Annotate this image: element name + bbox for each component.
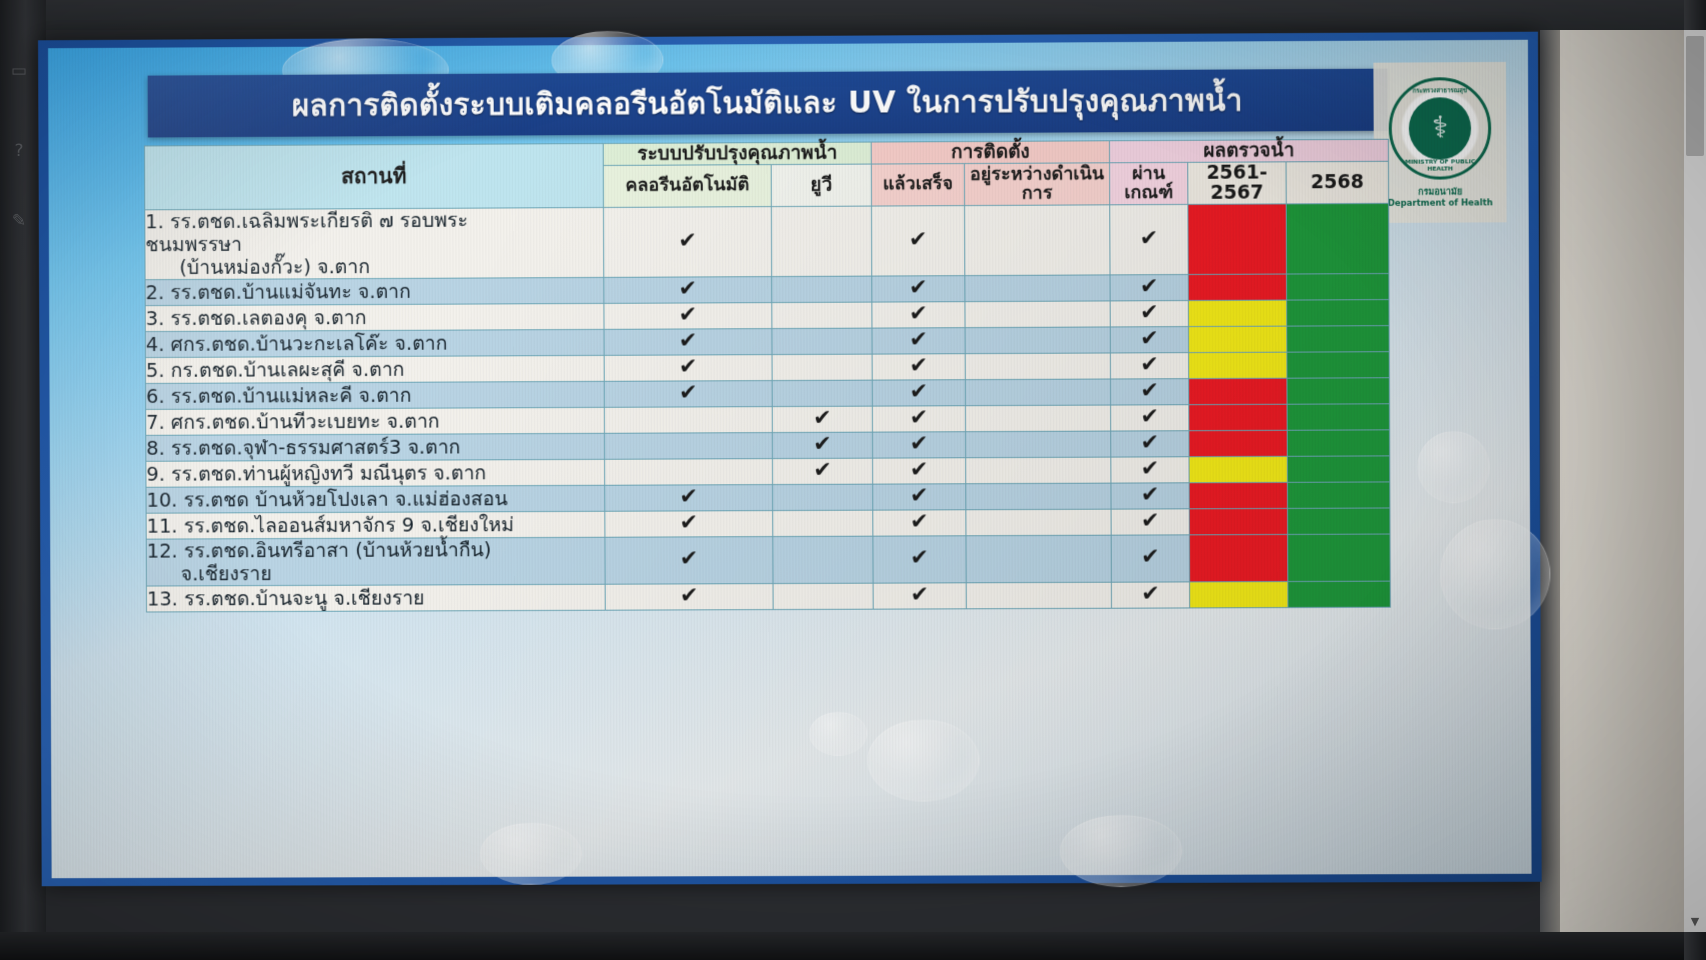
check-icon: ✔	[679, 328, 698, 353]
logo-caption-th: กรมอนามัย	[1418, 184, 1462, 198]
logo-arc-bottom-text: MINISTRY OF PUBLIC HEALTH	[1392, 158, 1488, 173]
cell-uv	[773, 583, 873, 609]
cell-chlorine: ✔	[604, 276, 772, 303]
check-icon: ✔	[909, 353, 928, 378]
check-icon: ✔	[909, 379, 928, 404]
col-header-year-range: 2561-2567	[1188, 161, 1286, 204]
col-header-pass: ผ่านเกณฑ์	[1110, 162, 1188, 204]
check-icon: ✔	[1140, 326, 1159, 351]
results-table: สถานที่ ระบบปรับปรุงคุณภาพน้ำ การติดตั้ง…	[144, 139, 1391, 612]
cell-place: 11. รร.ตชด.ไลออนส์มหาจักร 9 จ.เชียงใหม่	[146, 511, 605, 539]
cell-year-range-swatch	[1190, 581, 1288, 607]
cell-result-pass: ✔	[1110, 204, 1188, 274]
logo-inner-mark: ⚕	[1409, 97, 1472, 159]
cell-chlorine: ✔	[605, 484, 773, 511]
cell-install-done: ✔	[872, 353, 965, 379]
check-icon: ✔	[1141, 545, 1160, 570]
check-icon: ✔	[910, 457, 929, 482]
cell-place: 1. รร.ตชด.เฉลิมพระเกียรติ ๗ รอบพระชนมพรร…	[145, 207, 604, 279]
cell-result-pass: ✔	[1110, 300, 1188, 326]
cell-uv: ✔	[772, 406, 872, 432]
cell-place: 3. รร.ตชด.เลตองคุ จ.ตาก	[145, 303, 604, 331]
cell-chlorine: ✔	[604, 206, 772, 277]
results-table-container: สถานที่ ระบบปรับปรุงคุณภาพน้ำ การติดตั้ง…	[144, 139, 1391, 866]
place-name-line: 2. รร.ตชด.บ้านแม่จันทะ จ.ตาก	[146, 278, 604, 303]
cell-year-range-swatch	[1189, 508, 1287, 534]
cell-install-inprogress	[964, 204, 1110, 275]
check-icon: ✔	[1140, 352, 1159, 377]
cell-place: 7. ศกร.ตชด.บ้านทีวะเบยทะ จ.ตาก	[146, 407, 605, 435]
check-icon: ✔	[1140, 226, 1159, 251]
cell-result-pass: ✔	[1111, 581, 1189, 607]
monitor-bezel-top	[0, 0, 1706, 30]
cell-year-2568-swatch	[1287, 481, 1389, 507]
logo-arc-top-text: กระทรวงสาธารณสุข	[1392, 85, 1488, 96]
place-name-line: 13. รร.ตชด.บ้านจะนู จ.เชียงราย	[147, 585, 605, 610]
cell-year-2568-swatch	[1287, 299, 1389, 326]
cell-uv	[772, 302, 872, 328]
check-icon: ✔	[910, 483, 929, 508]
cell-chlorine: ✔	[604, 380, 772, 407]
col-header-result-group: ผลตรวจน้ำ	[1109, 139, 1388, 162]
cell-place: 5. กร.ตชด.บ้านเลผะสุคี จ.ตาก	[145, 355, 604, 383]
cell-year-range-swatch	[1189, 404, 1287, 430]
check-icon: ✔	[1140, 404, 1159, 429]
check-icon: ✔	[1141, 508, 1160, 533]
cell-chlorine: ✔	[604, 354, 772, 381]
cell-install-inprogress	[966, 483, 1111, 510]
cell-install-inprogress	[965, 300, 1110, 327]
cell-year-range-swatch	[1189, 378, 1287, 404]
table-row: 12. รร.ตชด.อินทรีอาสา (บ้านห้วยน้ำกืน)จ.…	[146, 534, 1390, 586]
cell-result-pass: ✔	[1110, 274, 1188, 300]
check-icon: ✔	[910, 405, 929, 430]
check-icon: ✔	[909, 227, 928, 252]
cell-place: 9. รร.ตชด.ท่านผู้หญิงทวี มณีนุตร จ.ตาก	[146, 459, 605, 487]
cell-install-inprogress	[966, 457, 1111, 484]
check-icon: ✔	[910, 582, 929, 607]
cell-chlorine	[605, 458, 773, 485]
check-icon: ✔	[813, 431, 832, 456]
cell-place: 6. รร.ตชด.บ้านแม่หละคี จ.ตาก	[146, 381, 605, 409]
check-icon: ✔	[813, 457, 832, 482]
col-header-done: แล้วเสร็จ	[871, 163, 964, 206]
cell-install-done: ✔	[873, 582, 966, 608]
place-name-line: 5. กร.ตชด.บ้านเลผะสุคี จ.ตาก	[146, 356, 604, 381]
check-icon: ✔	[910, 509, 929, 534]
table-head: สถานที่ ระบบปรับปรุงคุณภาพน้ำ การติดตั้ง…	[144, 139, 1388, 209]
cell-install-done: ✔	[871, 205, 964, 276]
cell-result-pass: ✔	[1111, 482, 1189, 508]
caduceus-icon: กระทรวงสาธารณสุข ⚕ MINISTRY OF PUBLIC HE…	[1388, 77, 1491, 180]
col-header-chlorine: คลอรีนอัตโนมัติ	[603, 164, 771, 207]
cell-result-pass: ✔	[1111, 456, 1189, 482]
cell-chlorine: ✔	[604, 328, 772, 355]
check-icon: ✔	[1141, 456, 1160, 481]
bubble-decoration	[1440, 519, 1551, 630]
place-name-line: 8. รร.ตชด.จุฬา-ธรรมศาสตร์3 จ.ตาก	[146, 434, 604, 459]
wall-surface-right	[1540, 30, 1688, 932]
check-icon: ✔	[1141, 581, 1160, 606]
check-icon: ✔	[1141, 430, 1160, 455]
place-name-line: 4. ศกร.ตชด.บ้านวะกะเลโค๊ะ จ.ตาก	[146, 330, 604, 355]
check-icon: ✔	[679, 354, 698, 379]
cell-year-2568-swatch	[1287, 455, 1389, 481]
cell-install-inprogress	[966, 535, 1111, 583]
cell-install-done: ✔	[873, 457, 966, 483]
cell-uv: ✔	[772, 458, 872, 484]
cell-install-done: ✔	[872, 405, 965, 431]
col-header-year-2568: 2568	[1286, 161, 1389, 204]
cell-install-done: ✔	[872, 327, 965, 353]
cell-year-range-swatch	[1188, 326, 1286, 353]
cell-year-2568-swatch	[1287, 377, 1389, 404]
cell-year-2568-swatch	[1286, 203, 1389, 274]
table-body: 1. รร.ตชด.เฉลิมพระเกียรติ ๗ รอบพระชนมพรร…	[145, 203, 1391, 612]
place-name-line: จ.เชียงราย	[147, 560, 605, 585]
cell-install-done: ✔	[872, 275, 965, 301]
cell-install-inprogress	[965, 379, 1110, 406]
cell-year-2568-swatch	[1288, 534, 1391, 581]
cell-uv	[773, 536, 873, 583]
cell-install-inprogress	[965, 431, 1110, 458]
cell-result-pass: ✔	[1111, 508, 1189, 534]
check-icon: ✔	[909, 327, 928, 352]
check-icon: ✔	[910, 545, 929, 570]
place-name-line: 12. รร.ตชด.อินทรีอาสา (บ้านห้วยน้ำกืน)	[147, 537, 605, 562]
logo-caption-en: Department of Health	[1388, 198, 1493, 209]
cell-chlorine: ✔	[605, 536, 773, 584]
slide-background: ผลการติดตั้งระบบเติมคลอรีนอัตโนมัติและ U…	[48, 40, 1532, 878]
place-name-line: 1. รร.ตชด.เฉลิมพระเกียรติ ๗ รอบพระ	[145, 208, 603, 233]
place-name-line: 3. รร.ตชด.เลตองคุ จ.ตาก	[146, 304, 604, 329]
place-name-line: ชนมพรรษา	[145, 230, 603, 255]
check-icon: ✔	[680, 510, 699, 535]
place-name-line: 6. รร.ตชด.บ้านแม่หละคี จ.ตาก	[146, 382, 604, 407]
check-icon: ✔	[1140, 378, 1159, 403]
cell-year-2568-swatch	[1287, 351, 1389, 378]
place-name-line: (บ้านหม่องกั๊วะ) จ.ตาก	[145, 253, 603, 278]
cell-year-2568-swatch	[1288, 508, 1390, 534]
cell-uv	[771, 206, 871, 277]
cell-install-done: ✔	[872, 379, 965, 405]
cell-chlorine: ✔	[604, 302, 772, 329]
cell-uv	[773, 510, 873, 536]
cell-place: 12. รร.ตชด.อินทรีอาสา (บ้านห้วยน้ำกืน)จ.…	[146, 537, 605, 586]
cell-year-range-swatch	[1188, 300, 1286, 327]
check-icon: ✔	[813, 405, 832, 430]
cell-install-inprogress	[965, 405, 1110, 432]
cell-result-pass: ✔	[1110, 352, 1188, 378]
folder-icon[interactable]: ▭	[6, 60, 32, 82]
question-icon[interactable]: ?	[6, 140, 32, 162]
cell-install-inprogress	[966, 509, 1111, 536]
cell-place: 13. รร.ตชด.บ้านจะนู จ.เชียงราย	[146, 584, 605, 612]
cell-chlorine	[604, 432, 772, 459]
cell-install-inprogress	[965, 327, 1110, 354]
scrollbar-thumb[interactable]	[1686, 36, 1704, 156]
cell-place: 10. รร.ตชด บ้านห้วยโปงเลา จ.แม่ฮ่องสอน	[146, 485, 605, 513]
page-title: ผลการติดตั้งระบบเติมคลอรีนอัตโนมัติและ U…	[292, 77, 1243, 129]
check-icon: ✔	[1140, 274, 1159, 299]
cell-place: 2. รร.ตชด.บ้านแม่จันทะ จ.ตาก	[145, 277, 604, 305]
check-icon: ✔	[679, 302, 698, 327]
cell-year-2568-swatch	[1287, 429, 1389, 455]
scroll-down-arrow-icon[interactable]: ▼	[1684, 912, 1706, 932]
cell-uv	[772, 328, 872, 354]
cell-place: 4. ศกร.ตชด.บ้านวะกะเลโค๊ะ จ.ตาก	[145, 329, 604, 357]
ministry-logo: กระทรวงสาธารณสุข ⚕ MINISTRY OF PUBLIC HE…	[1373, 62, 1506, 223]
cell-install-done: ✔	[873, 509, 966, 535]
cell-year-range-swatch	[1189, 534, 1287, 581]
col-header-system-group: ระบบปรับปรุงคุณภาพน้ำ	[603, 142, 871, 165]
cell-install-inprogress	[965, 353, 1110, 380]
col-header-inprogress: อยู่ระหว่างดำเนินการ	[964, 162, 1109, 205]
cell-install-done: ✔	[873, 535, 966, 582]
cell-result-pass: ✔	[1110, 378, 1188, 404]
table-row: 13. รร.ตชด.บ้านจะนู จ.เชียงราย✔✔✔	[146, 581, 1390, 612]
cell-install-done: ✔	[873, 483, 966, 509]
place-name-line: 11. รร.ตชด.ไลออนส์มหาจักร 9 จ.เชียงใหม่	[147, 512, 605, 537]
cell-result-pass: ✔	[1111, 430, 1189, 456]
cell-result-pass: ✔	[1110, 326, 1188, 352]
pencil-icon[interactable]: ✎	[6, 210, 32, 232]
bubble-decoration	[1417, 431, 1490, 503]
cell-year-range-swatch	[1188, 203, 1287, 274]
cell-year-range-swatch	[1188, 274, 1286, 301]
cell-year-2568-swatch	[1287, 273, 1389, 300]
monitor-bezel-bottom	[0, 932, 1706, 960]
check-icon: ✔	[1140, 300, 1159, 325]
cell-year-2568-swatch	[1287, 325, 1389, 352]
cell-place: 8. รร.ตชด.จุฬา-ธรรมศาสตร์3 จ.ตาก	[146, 433, 605, 461]
check-icon: ✔	[680, 583, 699, 608]
window-scrollbar[interactable]: ▲ ▼	[1684, 30, 1706, 932]
check-icon: ✔	[679, 380, 698, 405]
photo-of-projected-slide: ▭ ? ✎ ผลการติดตั้งระบบเติมคลอรีนอัตโนมัต…	[0, 0, 1706, 960]
cell-year-range-swatch	[1189, 352, 1287, 378]
check-icon: ✔	[678, 228, 697, 253]
presentation-slide: ผลการติดตั้งระบบเติมคลอรีนอัตโนมัติและ U…	[38, 32, 1542, 887]
cell-year-range-swatch	[1189, 430, 1287, 456]
check-icon: ✔	[679, 276, 698, 301]
cell-chlorine: ✔	[605, 510, 773, 537]
check-icon: ✔	[909, 301, 928, 326]
place-name-line: 9. รร.ตชด.ท่านผู้หญิงทวี มณีนุตร จ.ตาก	[146, 460, 604, 485]
check-icon: ✔	[910, 431, 929, 456]
cell-year-2568-swatch	[1287, 403, 1389, 430]
table-row: 1. รร.ตชด.เฉลิมพระเกียรติ ๗ รอบพระชนมพรร…	[145, 203, 1389, 279]
cell-chlorine	[604, 406, 772, 433]
check-icon: ✔	[680, 546, 699, 571]
cell-uv	[772, 354, 872, 380]
col-header-uv: ยูวี	[771, 164, 871, 207]
screen-edge-shadow	[1540, 30, 1560, 932]
place-name-line: 7. ศกร.ตชด.บ้านทีวะเบยทะ จ.ตาก	[146, 408, 604, 433]
check-icon: ✔	[909, 275, 928, 300]
cell-uv	[773, 484, 873, 510]
cell-year-range-swatch	[1189, 482, 1287, 508]
col-header-place: สถานที่	[144, 143, 603, 209]
cell-install-done: ✔	[872, 431, 965, 457]
col-header-install-group: การติดตั้ง	[871, 141, 1109, 164]
cell-chlorine: ✔	[605, 583, 773, 610]
cell-install-inprogress	[965, 274, 1110, 301]
cell-result-pass: ✔	[1111, 534, 1189, 581]
check-icon: ✔	[1141, 482, 1160, 507]
cell-install-done: ✔	[872, 301, 965, 327]
cell-install-inprogress	[966, 582, 1111, 609]
cell-result-pass: ✔	[1111, 404, 1189, 430]
cell-year-2568-swatch	[1288, 581, 1390, 607]
place-name-line: 10. รร.ตชด บ้านห้วยโปงเลา จ.แม่ฮ่องสอน	[146, 486, 604, 511]
cell-year-range-swatch	[1189, 456, 1287, 482]
slide-title-band: ผลการติดตั้งระบบเติมคลอรีนอัตโนมัติและ U…	[148, 69, 1388, 138]
cell-uv	[772, 276, 872, 302]
cell-uv: ✔	[772, 432, 872, 458]
check-icon: ✔	[679, 484, 698, 509]
cell-uv	[772, 380, 872, 406]
